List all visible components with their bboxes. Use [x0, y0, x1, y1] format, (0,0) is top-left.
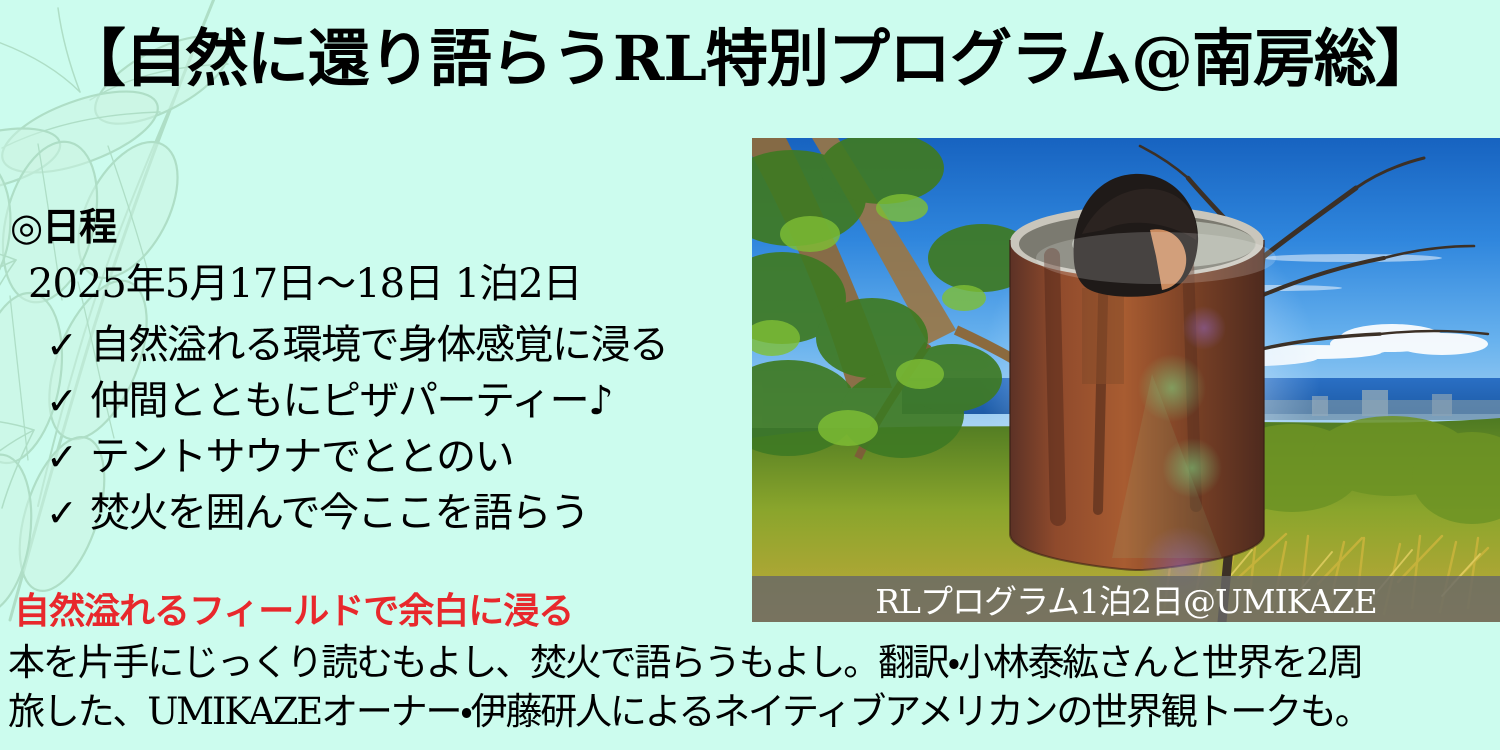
- check-icon: ✓: [46, 434, 90, 482]
- schedule-section: ◎日程 2025年5月17日〜18日 1泊2日 ✓ 自然溢れる環境で身体感覚に浸…: [0, 206, 745, 544]
- schedule-heading: ◎日程: [0, 206, 745, 250]
- body-line: 旅した、UMIKAZEオーナー・伊藤研人によるネイティブアメリカンの世界観トーク…: [8, 687, 1500, 736]
- list-item: ✓ テントサウナでととのい: [46, 432, 745, 482]
- hero-photo: RLプログラム1泊2日@UMIKAZE: [752, 138, 1500, 622]
- poster-title: 【自然に還り語らうRL特別プログラム@南房総】: [0, 26, 1500, 91]
- feature-list: ✓ 自然溢れる環境で身体感覚に浸る ✓ 仲間とともにピザパーティー♪ ✓ テント…: [0, 320, 745, 538]
- body-paragraph: 本を片手にじっくり読むもよし、焚火で語らうもよし。翻訳・小林泰紘さんと世界を2周…: [8, 638, 1500, 736]
- red-headline: 自然溢れるフィールドで余白に浸る: [14, 592, 573, 632]
- list-item-label: 焚火を囲んで今ここを語らう: [90, 488, 589, 538]
- poster-canvas: 【自然に還り語らうRL特別プログラム@南房総】 ◎日程 2025年5月17日〜1…: [0, 0, 1500, 750]
- check-icon: ✓: [46, 322, 90, 370]
- photo-caption-bar: RLプログラム1泊2日@UMIKAZE: [752, 576, 1500, 622]
- body-line: 本を片手にじっくり読むもよし、焚火で語らうもよし。翻訳・小林泰紘さんと世界を2周: [8, 638, 1500, 687]
- list-item-label: 自然溢れる環境で身体感覚に浸る: [90, 320, 668, 370]
- list-item: ✓ 自然溢れる環境で身体感覚に浸る: [46, 320, 745, 370]
- list-item: ✓ 焚火を囲んで今ここを語らう: [46, 488, 745, 538]
- list-item-label: 仲間とともにピザパーティー♪: [90, 376, 612, 426]
- schedule-date: 2025年5月17日〜18日 1泊2日: [0, 260, 745, 308]
- check-icon: ✓: [46, 378, 90, 426]
- list-item-label: テントサウナでととのい: [90, 432, 513, 482]
- list-item: ✓ 仲間とともにピザパーティー♪: [46, 376, 745, 426]
- photo-caption-text: RLプログラム1泊2日@UMIKAZE: [875, 575, 1377, 622]
- check-icon: ✓: [46, 490, 90, 538]
